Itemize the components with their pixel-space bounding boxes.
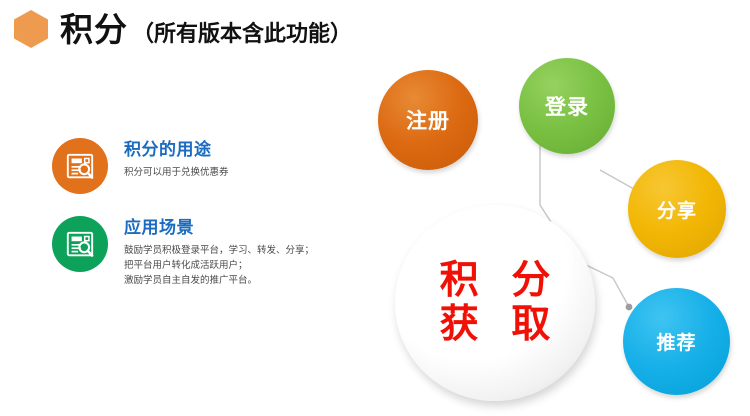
feature-title: 积分的用途 [124, 140, 229, 160]
document-search-icon [52, 216, 108, 272]
document-search-icon [52, 138, 108, 194]
feature-description: 积分可以用于兑换优惠券 [124, 165, 229, 180]
feature-title: 应用场景 [124, 218, 314, 238]
node-label: 登录 [545, 91, 589, 121]
node-login[interactable]: 登录 [519, 58, 615, 154]
node-recommend[interactable]: 推荐 [623, 288, 730, 395]
feature-description: 鼓励学员积极登录平台，学习、转发、分享； 把平台用户转化成活跃用户； 激励学员自… [124, 243, 314, 289]
feature-item-usage: 积分的用途 积分可以用于兑换优惠券 [52, 138, 352, 194]
feature-list: 积分的用途 积分可以用于兑换优惠券 应用场景 鼓励学员积极登录 [52, 138, 352, 311]
points-diagram: 积 分 获 取 注册 登录 分享 推荐 [355, 0, 750, 416]
center-node: 积 分 获 取 [395, 205, 595, 401]
feature-text-usage: 积分的用途 积分可以用于兑换优惠券 [124, 138, 229, 180]
node-share[interactable]: 分享 [628, 160, 726, 258]
feature-item-scenario: 应用场景 鼓励学员积极登录平台，学习、转发、分享； 把平台用户转化成活跃用户； … [52, 216, 352, 289]
center-node-label-line2: 获 取 [429, 303, 562, 347]
hexagon-icon [14, 10, 48, 48]
node-label: 分享 [657, 196, 697, 223]
slide-header: 积分 （所有版本含此功能） [0, 10, 352, 48]
feature-text-scenario: 应用场景 鼓励学员积极登录平台，学习、转发、分享； 把平台用户转化成活跃用户； … [124, 216, 314, 289]
page-title: 积分 [60, 13, 128, 46]
center-node-label-line1: 积 分 [429, 259, 562, 303]
node-label: 推荐 [656, 328, 696, 355]
slide-canvas: 积分 （所有版本含此功能） 积分的用途 积分可以用于兑换优惠券 [0, 0, 750, 416]
node-register[interactable]: 注册 [378, 70, 478, 170]
page-subtitle: （所有版本含此功能） [132, 23, 352, 48]
node-label: 注册 [406, 105, 450, 135]
